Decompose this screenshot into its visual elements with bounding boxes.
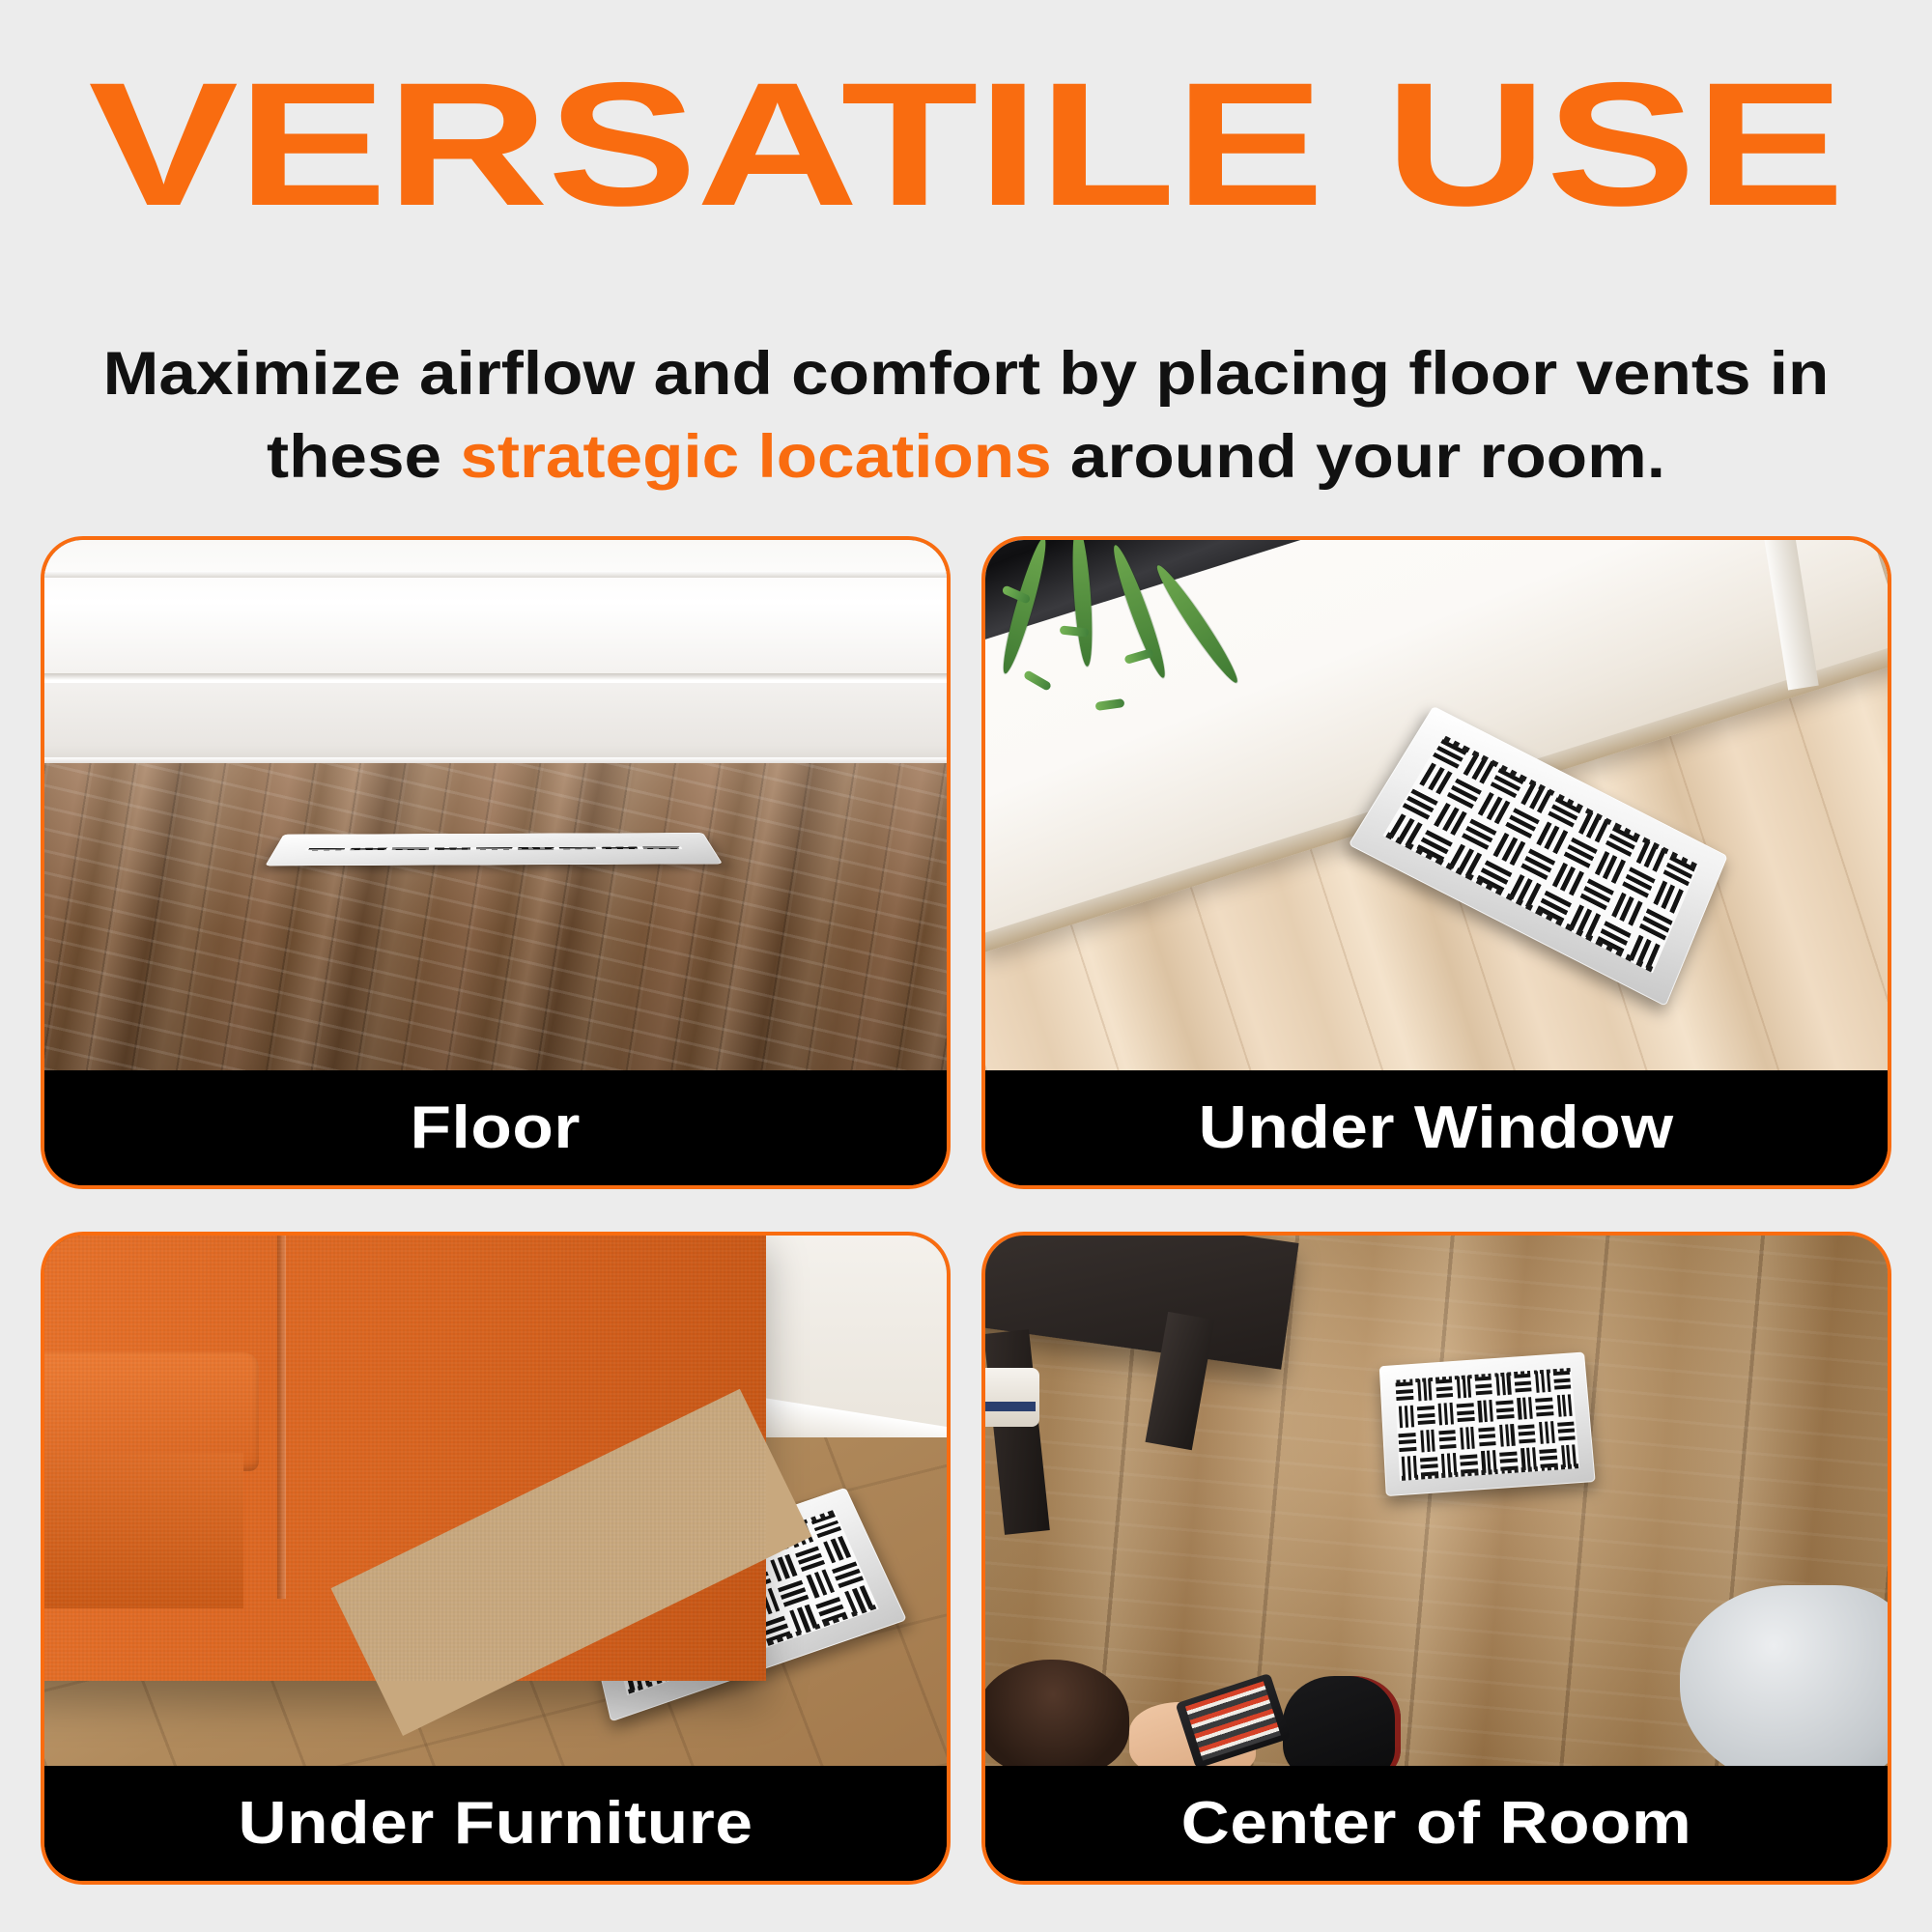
subtitle-highlight: strategic locations [460,423,1051,491]
photo-floor-scene [44,540,947,1070]
page-headline: VERSATILE USE [0,56,1932,232]
card-under-furniture[interactable]: Under Furniture [41,1232,951,1885]
page-subtitle: Maximize airflow and comfort by placing … [0,333,1932,498]
sofa-seam [277,1236,286,1599]
infographic-page: VERSATILE USE Maximize airflow and comfo… [0,0,1932,1932]
floor-register-vent [1379,1352,1596,1497]
vent-frame [1379,1352,1596,1497]
vent-frame [266,833,723,866]
grey-pillow [1680,1585,1888,1766]
subtitle-line-1: Maximize airflow and comfort by placing … [0,333,1932,416]
vent-grille-pattern [1394,1367,1579,1481]
photo-center-of-room-scene [985,1236,1888,1766]
subtitle-pre: these [267,423,460,491]
floor-register-vent [266,833,723,866]
card-center-of-room[interactable]: Center of Room [981,1232,1891,1885]
vent-grille-pattern [305,847,683,851]
photo-under-furniture-scene [44,1236,947,1766]
sofa-arm-lower [44,1453,243,1608]
photo-under-window-scene [985,540,1888,1070]
wall-surface [44,540,947,763]
use-case-grid: Floor [41,536,1891,1885]
caption-label: Under Furniture [238,1789,753,1858]
caption-bar-floor: Floor [44,1070,947,1185]
subtitle-post: around your room. [1052,423,1665,491]
fern-plant-icon [994,540,1355,842]
card-under-window[interactable]: Under Window [981,536,1891,1189]
caption-label: Floor [411,1094,581,1162]
caption-bar-under-furniture: Under Furniture [44,1766,947,1881]
mug [985,1368,1039,1426]
caption-bar-under-window: Under Window [985,1070,1888,1185]
caption-label: Under Window [1199,1094,1674,1162]
caption-bar-center-of-room: Center of Room [985,1766,1888,1881]
person-foot [1283,1676,1400,1766]
orange-sofa [44,1236,766,1681]
sofa-arm [44,1352,259,1471]
card-floor[interactable]: Floor [41,536,951,1189]
hardwood-floor [44,763,947,1070]
subtitle-line-2: these strategic locations around your ro… [0,416,1932,499]
caption-label: Center of Room [1181,1789,1692,1858]
